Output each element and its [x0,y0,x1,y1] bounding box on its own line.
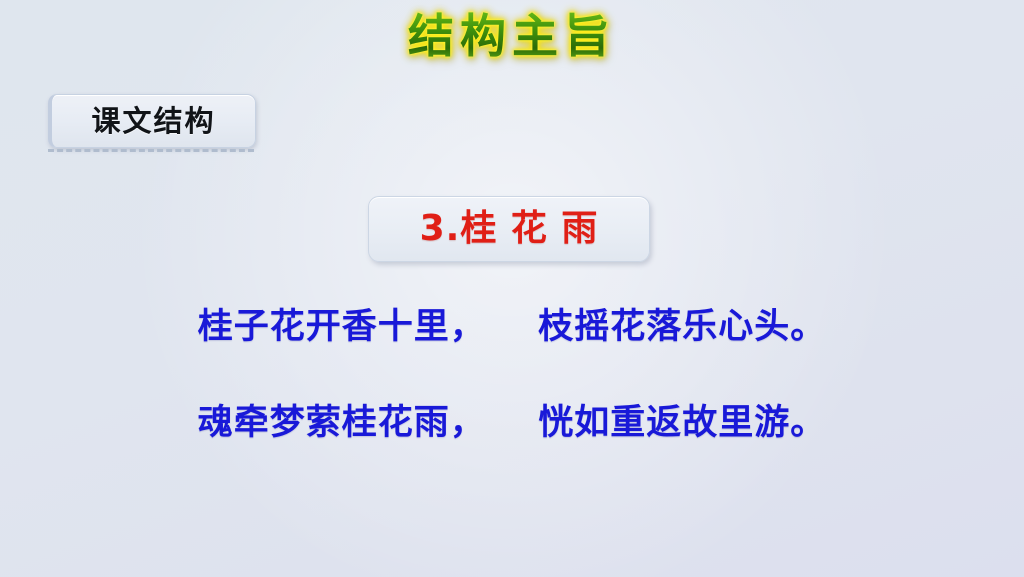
lesson-title-label: 3.桂 花 雨 [420,211,599,247]
poem-line-1-first: 桂子花开香十里， [198,307,486,347]
lesson-title-plate: 3.桂 花 雨 [368,196,650,262]
poem-line-2: 魂牵梦萦桂花雨， 恍如重返故里游。 [0,396,1024,450]
section-tag-label: 课文结构 [91,107,215,136]
poem-line-1-second: 枝摇花落乐心头。 [538,307,826,347]
presentation-slide: 结构主旨 课文结构 3.桂 花 雨 桂子花开香十里， 枝摇花落乐心头。 魂牵梦萦… [0,0,1024,577]
section-tag-box: 课文结构 [48,94,256,148]
poem-line-2-second: 恍如重返故里游。 [538,403,826,443]
page-title: 结构主旨 [0,6,1024,66]
poem-block: 桂子花开香十里， 枝摇花落乐心头。 魂牵梦萦桂花雨， 恍如重返故里游。 [0,300,1024,450]
poem-line-2-first: 魂牵梦萦桂花雨， [198,403,486,443]
section-tag-underline [48,149,254,155]
poem-line-1: 桂子花开香十里， 枝摇花落乐心头。 [0,300,1024,354]
